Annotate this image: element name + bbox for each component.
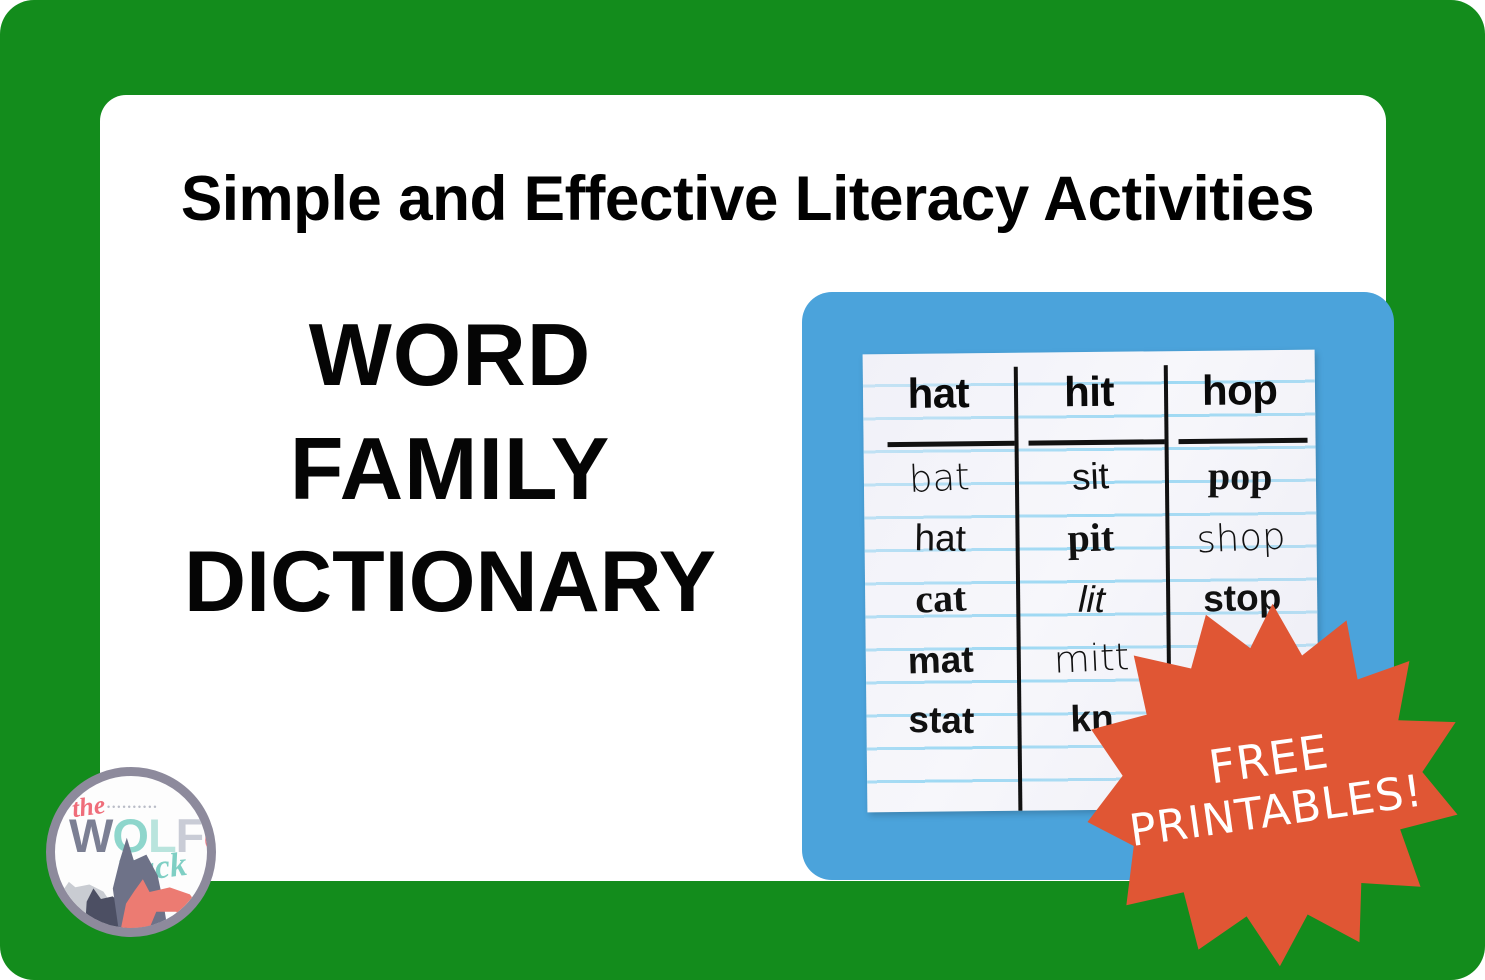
word-item: cat xyxy=(914,578,967,621)
header-underline xyxy=(888,441,1015,447)
word-item: stat xyxy=(909,701,975,740)
title-line-1: WORD xyxy=(130,298,770,412)
word-list-hat: bat hat cat mat stat xyxy=(864,459,1018,740)
header-underline xyxy=(1179,438,1308,444)
wolfe-pack-logo[interactable]: the •••••••••• WOLFe Pack xyxy=(46,767,216,937)
free-printables-badge[interactable]: FREE PRINTABLES! xyxy=(1085,600,1460,970)
word-column-hat: hat bat hat cat mat stat xyxy=(863,353,1018,813)
starburst-icon xyxy=(1085,600,1460,970)
page-headline: Simple and Effective Literacy Activities xyxy=(129,163,1365,235)
poster-canvas: Simple and Effective Literacy Activities… xyxy=(0,0,1485,980)
word-item: sit xyxy=(1071,457,1110,496)
word-item: shop xyxy=(1196,517,1286,559)
word-item: bat xyxy=(908,458,970,498)
column-header-hop: hop xyxy=(1202,366,1278,415)
word-item: pop xyxy=(1208,456,1273,498)
word-item: mat xyxy=(908,641,975,681)
column-header-hat: hat xyxy=(907,369,969,418)
logo-artwork: the •••••••••• WOLFe Pack xyxy=(55,776,207,928)
title-line-2: FAMILY xyxy=(130,412,770,526)
page-title: WORD FAMILY DICTIONARY xyxy=(130,298,770,639)
header-underline xyxy=(1028,439,1165,445)
title-line-3: DICTIONARY xyxy=(130,527,770,639)
column-header-hit: hit xyxy=(1064,368,1114,417)
word-item: hat xyxy=(914,519,966,558)
word-list-hop: pop shop stop xyxy=(1165,456,1317,618)
logo-letter-w: W xyxy=(69,809,112,862)
word-item: pit xyxy=(1067,517,1115,559)
